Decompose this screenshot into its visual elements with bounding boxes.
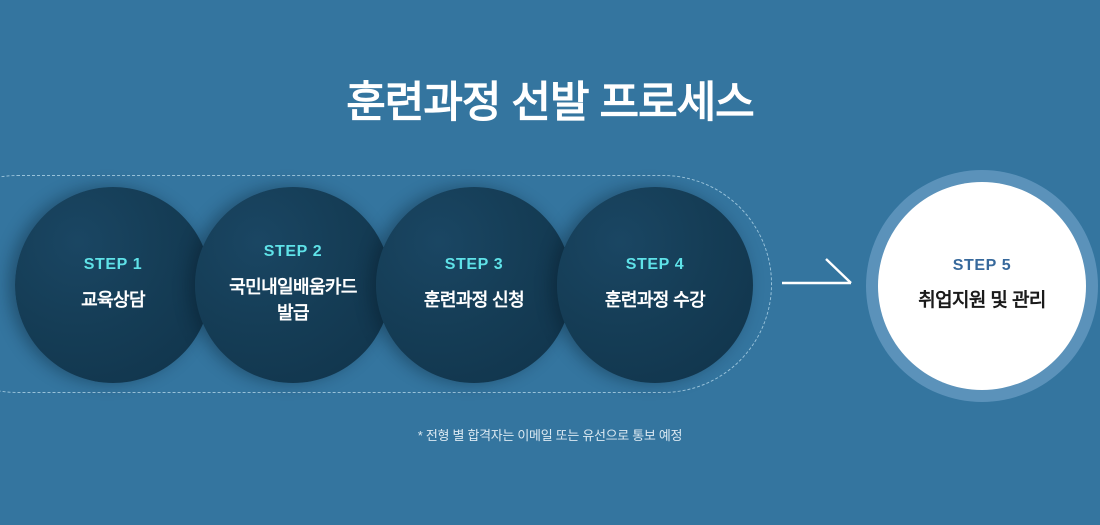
step-text-2: 국민내일배움카드 발급: [205, 275, 381, 326]
footnote-text: * 전형 별 합격자는 이메일 또는 유선으로 통보 예정: [0, 425, 1100, 444]
step-text-4: 훈련과정 수강: [567, 288, 743, 314]
step-circle-2[interactable]: STEP 2 국민내일배움카드 발급: [195, 187, 391, 383]
step-circle-1[interactable]: STEP 1 교육상담: [15, 187, 211, 383]
step-text-3: 훈련과정 신청: [386, 288, 562, 314]
step-circle-5-inner: STEP 5 취업지원 및 관리: [878, 182, 1086, 390]
step-label-5: STEP 5: [953, 257, 1011, 275]
page-title: 훈련과정 선발 프로세스: [0, 78, 1100, 130]
step-label-4: STEP 4: [626, 256, 684, 274]
arrow-right-icon: [780, 252, 856, 292]
step-label-2: STEP 2: [264, 243, 322, 261]
step-circle-5[interactable]: STEP 5 취업지원 및 관리: [866, 170, 1098, 402]
step-label-3: STEP 3: [445, 256, 503, 274]
process-diagram: 훈련과정 선발 프로세스 STEP 1 교육상담 STEP 2 국민내일배움카드…: [0, 0, 1100, 525]
step-text-1: 교육상담: [25, 288, 201, 314]
step-circle-3[interactable]: STEP 3 훈련과정 신청: [376, 187, 572, 383]
step-text-5: 취업지원 및 관리: [887, 288, 1077, 315]
step-circle-4[interactable]: STEP 4 훈련과정 수강: [557, 187, 753, 383]
step-label-1: STEP 1: [84, 256, 142, 274]
